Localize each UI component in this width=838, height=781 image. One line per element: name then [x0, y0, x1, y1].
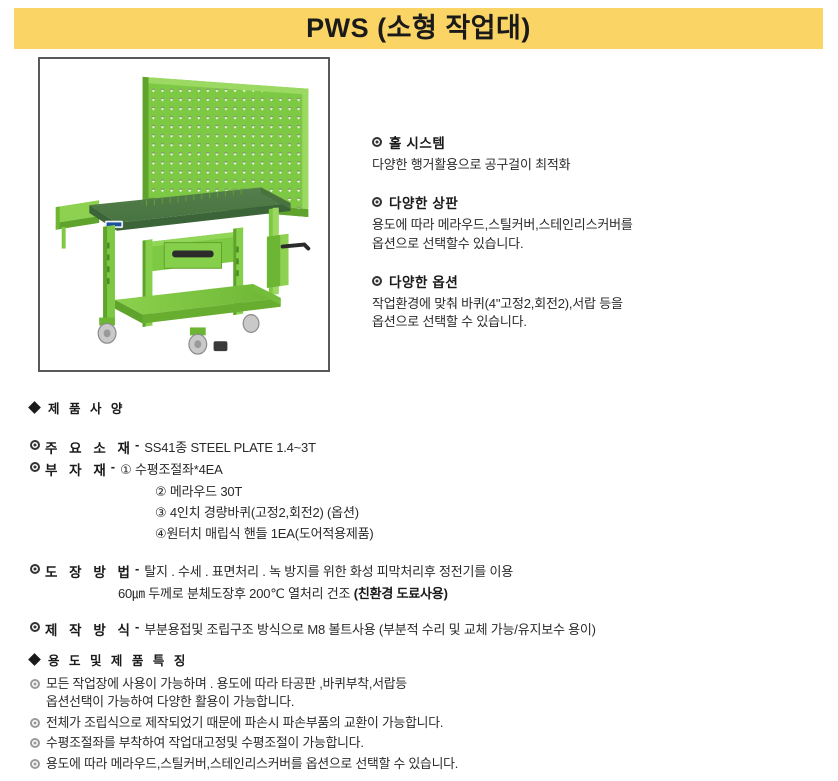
usage-item-line: 용도에 따라 메라우드,스틸커버,스테인리스커버를 옵션으로 선택할 수 있습니… [46, 755, 458, 773]
spec-value: 부분용접및 조립구조 방식으로 M8 볼트사용 (부분적 수리 및 교체 가능/… [144, 619, 596, 638]
ring-bullet-icon [372, 137, 382, 147]
usage-item-text: 전체가 조립식으로 제작되었기 때문에 파손시 파손부품의 교환이 가능합니다. [46, 714, 443, 732]
usage-item-line: 수평조절좌를 부착하여 작업대고정및 수평조절이 가능합니다. [46, 734, 364, 752]
usage-item-text: 용도에 따라 메라우드,스틸커버,스테인리스커버를 옵션으로 선택할 수 있습니… [46, 755, 458, 773]
feature-body-line: 용도에 따라 메라우드,스틸커버,스테인리스커버를 [372, 216, 812, 235]
feature-heading: 다양한 옵션 [372, 271, 812, 291]
ring-bullet-icon [30, 622, 40, 632]
spec-row: 부 자 재 - ① 수평조절좌*4EA [30, 459, 820, 479]
paint-line2-plain: 60㎛ 두께로 분체도장후 200℃ 열처리 건조 [118, 586, 354, 601]
diamond-bullet-icon [28, 653, 41, 666]
usage-section-title: 용 도 및 제 품 특 징 [30, 650, 820, 669]
product-photo-frame [38, 57, 330, 372]
ring-bullet-icon [30, 759, 40, 769]
feature-body: 다양한 행거활용으로 공구걸이 최적화 [372, 156, 812, 175]
ring-bullet-icon [372, 197, 382, 207]
spec-label: 주 요 소 재 [45, 437, 134, 457]
feature-item-0: 홀 시스템 다양한 행거활용으로 공구걸이 최적화 [372, 132, 812, 175]
spec-sub-item: ② 메라우드 30T [155, 481, 820, 502]
ring-bullet-icon [372, 276, 382, 286]
spec-section-title-text: 제 품 사 양 [48, 398, 125, 417]
spec-value: SS41종 STEEL PLATE 1.4~3T [144, 437, 316, 456]
usage-list-item: 모든 작업장에 사용이 가능하며 . 용도에 따라 타공판 ,바퀴부착,서랍등 … [30, 675, 820, 711]
diamond-bullet-icon [28, 401, 41, 414]
feature-heading-text: 다양한 옵션 [389, 271, 458, 291]
spec-section-title: 제 품 사 양 [30, 398, 820, 417]
feature-body: 용도에 따라 메라우드,스틸커버,스테인리스커버를 옵션으로 선택할수 있습니다… [372, 216, 812, 254]
usage-section-title-text: 용 도 및 제 품 특 징 [48, 650, 188, 669]
manufacture-method-block: 제 작 방 식 - 부분용접및 조립구조 방식으로 M8 볼트사용 (부분적 수… [30, 619, 820, 639]
product-photo [40, 59, 328, 370]
page-title: PWS (소형 작업대) [306, 15, 531, 42]
spec-row: 주 요 소 재 - SS41종 STEEL PLATE 1.4~3T [30, 437, 820, 457]
feature-body-line: 옵션으로 선택할 수 있습니다. [372, 313, 812, 332]
usage-list-item: 전체가 조립식으로 제작되었기 때문에 파손시 파손부품의 교환이 가능합니다. [30, 714, 820, 732]
spec-rows: 주 요 소 재 - SS41종 STEEL PLATE 1.4~3T 부 자 재… [30, 437, 820, 544]
feature-body-line: 작업환경에 맞춰 바퀴(4"고정2,회전2),서랍 등을 [372, 295, 812, 314]
spec-dash: - [135, 437, 139, 452]
feature-item-1: 다양한 상판 용도에 따라 메라우드,스틸커버,스테인리스커버를 옵션으로 선택… [372, 192, 812, 254]
paint-method-line2: 60㎛ 두께로 분체도장후 200℃ 열처리 건조 (친환경 도료사용) [118, 583, 820, 602]
spec-label: 부 자 재 [45, 459, 110, 479]
usage-item-line: 모든 작업장에 사용이 가능하며 . 용도에 따라 타공판 ,바퀴부착,서랍등 [46, 675, 407, 693]
feature-heading: 홀 시스템 [372, 132, 812, 152]
spec-dash: - [135, 619, 139, 634]
workbench-illustration [40, 59, 328, 370]
feature-item-2: 다양한 옵션 작업환경에 맞춰 바퀴(4"고정2,회전2),서랍 등을 옵션으로… [372, 271, 812, 333]
feature-heading: 다양한 상판 [372, 192, 812, 212]
spec-row: 도 장 방 법 - 탈지 . 수세 . 표면처리 . 녹 방지를 위한 화성 피… [30, 561, 820, 581]
spec-sub-list: ② 메라우드 30T ③ 4인치 경량바퀴(고정2,회전2) (옵션) ④원터치… [155, 481, 820, 544]
usage-list-item: 수평조절좌를 부착하여 작업대고정및 수평조절이 가능합니다. [30, 734, 820, 752]
ring-bullet-icon [30, 738, 40, 748]
ring-bullet-icon [30, 564, 40, 574]
spec-dash: - [111, 459, 115, 474]
usage-item-line: 전체가 조립식으로 제작되었기 때문에 파손시 파손부품의 교환이 가능합니다. [46, 714, 443, 732]
specification-section: 제 품 사 양 주 요 소 재 - SS41종 STEEL PLATE 1.4~… [30, 398, 820, 641]
paint-method-block: 도 장 방 법 - 탈지 . 수세 . 표면처리 . 녹 방지를 위한 화성 피… [30, 561, 820, 602]
spec-dash: - [135, 561, 139, 576]
ring-bullet-icon [30, 462, 40, 472]
spec-value: ① 수평조절좌*4EA [120, 459, 223, 478]
feature-body: 작업환경에 맞춰 바퀴(4"고정2,회전2),서랍 등을 옵션으로 선택할 수 … [372, 295, 812, 333]
spec-sub-item: ③ 4인치 경량바퀴(고정2,회전2) (옵션) [155, 502, 820, 523]
ring-bullet-icon [30, 440, 40, 450]
ring-bullet-icon [30, 718, 40, 728]
spec-label: 제 작 방 식 [45, 619, 134, 639]
spec-label: 도 장 방 법 [45, 561, 134, 581]
usage-list-item: 용도에 따라 메라우드,스틸커버,스테인리스커버를 옵션으로 선택할 수 있습니… [30, 755, 820, 773]
usage-item-line: 옵션선택이 가능하여 다양한 활용이 가능합니다. [46, 693, 407, 711]
spec-value: 탈지 . 수세 . 표면처리 . 녹 방지를 위한 화성 피막처리후 정전기를 … [144, 561, 513, 580]
usage-item-text: 수평조절좌를 부착하여 작업대고정및 수평조절이 가능합니다. [46, 734, 364, 752]
feature-body-line: 다양한 행거활용으로 공구걸이 최적화 [372, 156, 812, 175]
feature-body-line: 옵션으로 선택할수 있습니다. [372, 235, 812, 254]
ring-bullet-icon [30, 679, 40, 689]
paint-line2-bold: (친환경 도료사용) [354, 586, 448, 601]
usage-item-text: 모든 작업장에 사용이 가능하며 . 용도에 따라 타공판 ,바퀴부착,서랍등 … [46, 675, 407, 711]
spec-row: 제 작 방 식 - 부분용접및 조립구조 방식으로 M8 볼트사용 (부분적 수… [30, 619, 820, 639]
page-title-banner: PWS (소형 작업대) [14, 8, 823, 49]
feature-list: 홀 시스템 다양한 행거활용으로 공구걸이 최적화 다양한 상판 용도에 따라 … [372, 132, 812, 349]
feature-heading-text: 다양한 상판 [389, 192, 458, 212]
feature-heading-text: 홀 시스템 [389, 132, 445, 152]
usage-section: 용 도 및 제 품 특 징 모든 작업장에 사용이 가능하며 . 용도에 따라 … [30, 650, 820, 776]
spec-sub-item: ④원터치 매립식 핸들 1EA(도어적용제품) [155, 523, 820, 544]
